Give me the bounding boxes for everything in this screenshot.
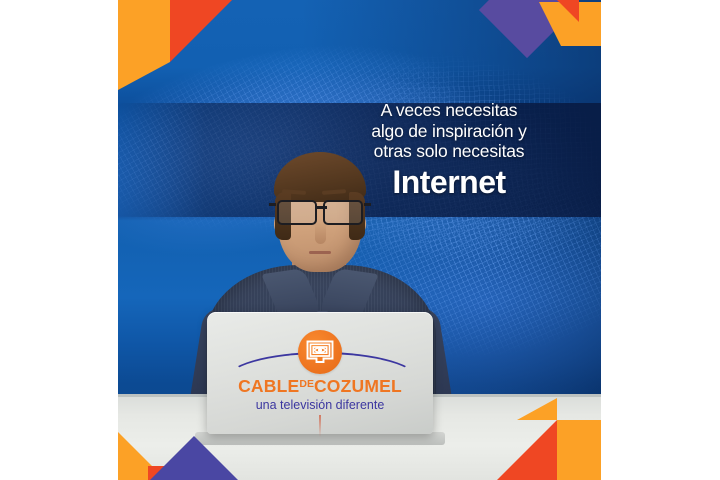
lens-left — [277, 200, 317, 225]
brand-wordmark: CABLEDECOZUMEL — [222, 378, 418, 396]
brand-logo: CABLEDECOZUMEL una televisión diferente — [222, 330, 418, 411]
eyeglasses — [274, 198, 366, 224]
deco-bottom-right-red-triangle — [497, 420, 557, 480]
headline-line-3: otras solo necesitas — [315, 141, 583, 162]
brand-tagline: una televisión diferente — [222, 399, 418, 412]
brand-name-cable: CABLE — [238, 376, 299, 396]
screenshot-canvas: A veces necesitas algo de inspiración y … — [0, 0, 720, 480]
headline-text-block: A veces necesitas algo de inspiración y … — [315, 100, 583, 202]
nose — [315, 222, 326, 244]
laptop: CABLEDECOZUMEL una televisión diferente — [207, 312, 433, 434]
brand-name-cozumel: COZUMEL — [314, 376, 402, 396]
deco-top-right-red-triangle — [557, 0, 579, 22]
tv-eye-icon — [298, 330, 342, 374]
mouth — [309, 251, 331, 254]
deco-bottom-right-orange-triangle — [517, 398, 557, 420]
glasses-bridge — [315, 206, 327, 209]
glasses-temple-left — [269, 203, 276, 206]
glasses-temple-right — [364, 203, 371, 206]
deco-bottom-right-orange-block — [557, 420, 601, 480]
deco-bottom-left-purple-triangle — [150, 436, 238, 480]
deco-top-left-orange-triangle — [118, 62, 170, 90]
headline-emphasis-internet: Internet — [315, 164, 583, 202]
headline-line-1: A veces necesitas — [315, 100, 583, 121]
headline-line-2: algo de inspiración y — [315, 121, 583, 142]
advertisement-poster: A veces necesitas algo de inspiración y … — [118, 0, 601, 480]
deco-top-left-red-triangle — [170, 0, 232, 62]
deco-top-left-orange-block — [118, 0, 170, 62]
brand-name-de: DE — [299, 378, 314, 390]
laptop-hinge-marker — [319, 415, 321, 437]
lens-right — [323, 200, 363, 225]
